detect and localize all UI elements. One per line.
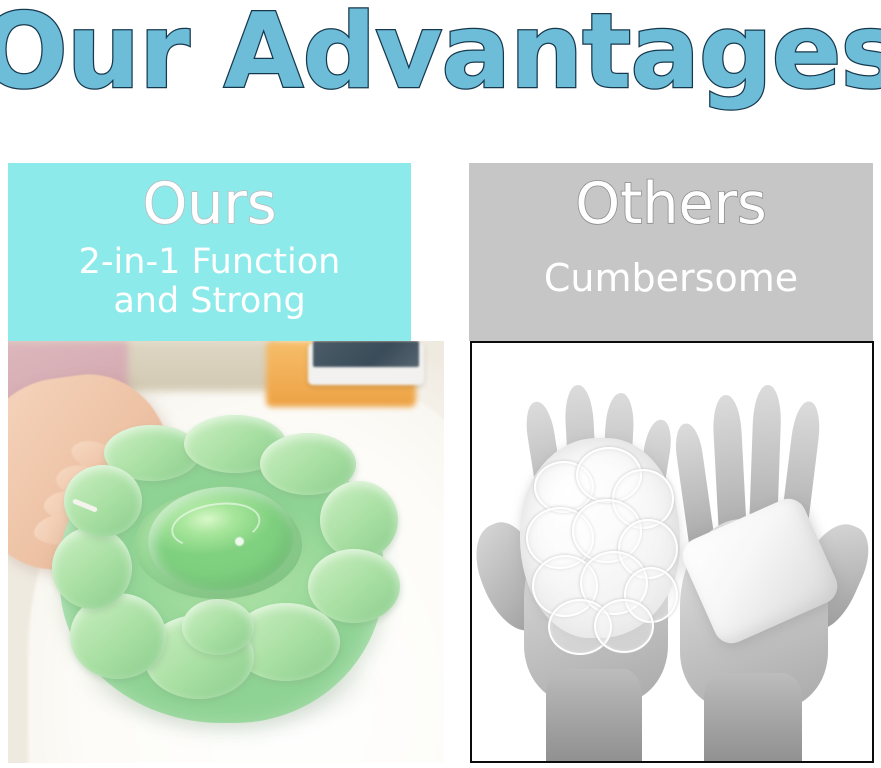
- comparison-section: Ours 2-in-1 Function and Strong: [0, 112, 881, 768]
- ours-title: Ours: [8, 172, 411, 237]
- wrist: [704, 673, 802, 763]
- wrist: [546, 669, 642, 763]
- others-subtitle: Cumbersome: [469, 257, 873, 300]
- ours-subtitle-line1: 2-in-1 Function: [8, 243, 411, 282]
- others-product-photo: [470, 341, 874, 763]
- loofah-loop: [594, 599, 654, 653]
- ours-product-photo: [8, 341, 444, 763]
- ours-header: Ours 2-in-1 Function and Strong: [8, 163, 411, 343]
- phone-screen-icon: [313, 341, 419, 367]
- pouch-ruffle: [52, 527, 132, 609]
- soap-highlight: [235, 537, 244, 546]
- pouch-ruffle: [182, 599, 254, 655]
- others-header: Others Cumbersome: [469, 163, 873, 341]
- others-title: Others: [469, 172, 873, 237]
- page-title: Our Advantages: [0, 0, 881, 108]
- pouch-ruffle: [320, 481, 398, 559]
- ours-subtitle-line2: and Strong: [8, 282, 411, 321]
